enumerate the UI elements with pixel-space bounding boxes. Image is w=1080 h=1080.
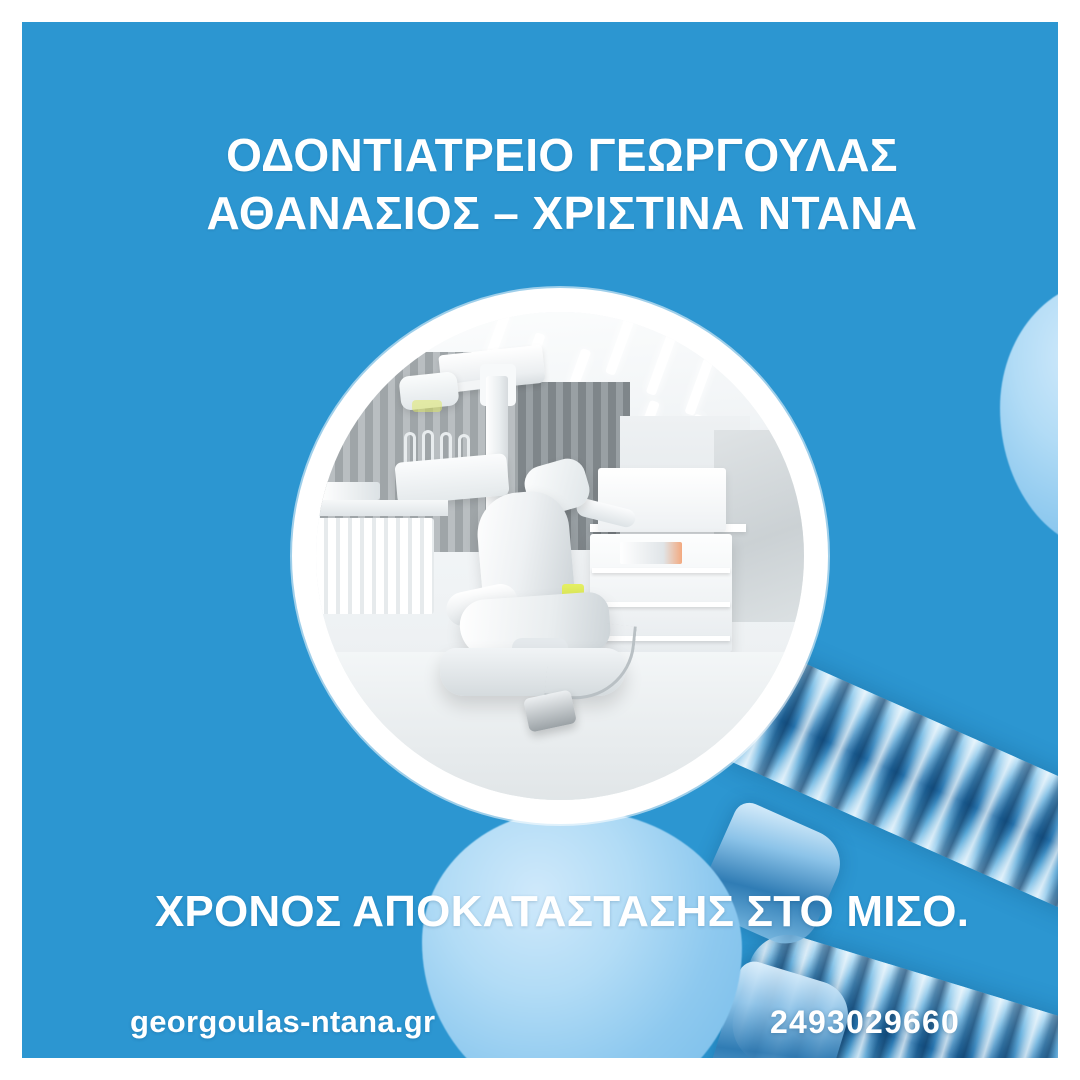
counter-supplies bbox=[320, 482, 380, 500]
phone-number[interactable]: 2493029660 bbox=[770, 1004, 960, 1041]
website-link[interactable]: georgoulas-ntana.gr bbox=[130, 1004, 435, 1040]
shelf-supplies bbox=[620, 542, 682, 564]
page-title-line-1: ΟΔΟΝΤΙΑΤΡΕΙΟ ΓΕΩΡΓΟΥΛΑΣ bbox=[22, 126, 1058, 184]
corner-bracket-bottom-right bbox=[1058, 818, 1080, 1080]
corner-bracket-bottom-left bbox=[0, 818, 22, 1080]
side-counter bbox=[316, 500, 448, 516]
tooth-crown-icon bbox=[1000, 280, 1058, 552]
dental-light-glow bbox=[412, 400, 442, 412]
corner-bracket-top-right bbox=[1058, 0, 1080, 262]
tagline: ΧΡΟΝΟΣ ΑΠΟΚΑΤΑΣΤΑΣΗΣ ΣΤΟ ΜΙΣΟ. bbox=[22, 886, 1058, 938]
shelf-board bbox=[592, 568, 730, 573]
poster-background-panel: ΟΔΟΝΤΙΑΤΡΕΙΟ ΓΕΩΡΓΟΥΛΑΣ ΑΘΑΝΑΣΙΟΣ – ΧΡΙΣ… bbox=[22, 22, 1058, 1058]
corner-bracket-bottom-left bbox=[0, 1058, 222, 1080]
clinic-photo bbox=[316, 312, 804, 800]
corner-bracket-bottom-right bbox=[858, 1058, 1080, 1080]
corner-bracket-top-left bbox=[0, 0, 222, 22]
radiator bbox=[316, 518, 434, 614]
page-title: ΟΔΟΝΤΙΑΤΡΕΙΟ ΓΕΩΡΓΟΥΛΑΣ ΑΘΑΝΑΣΙΟΣ – ΧΡΙΣ… bbox=[22, 126, 1058, 242]
page-title-line-2: ΑΘΑΝΑΣΙΟΣ – ΧΡΙΣΤΙΝΑ ΝΤΑΝΑ bbox=[22, 184, 1058, 242]
poster-canvas: ΟΔΟΝΤΙΑΤΡΕΙΟ ΓΕΩΡΓΟΥΛΑΣ ΑΘΑΝΑΣΙΟΣ – ΧΡΙΣ… bbox=[0, 0, 1080, 1080]
corner-bracket-top-right bbox=[858, 0, 1080, 22]
shelf-board bbox=[592, 602, 730, 607]
clinic-photo-scene bbox=[316, 312, 804, 800]
clinic-photo-ring bbox=[292, 288, 828, 824]
corner-bracket-top-left bbox=[0, 0, 22, 262]
